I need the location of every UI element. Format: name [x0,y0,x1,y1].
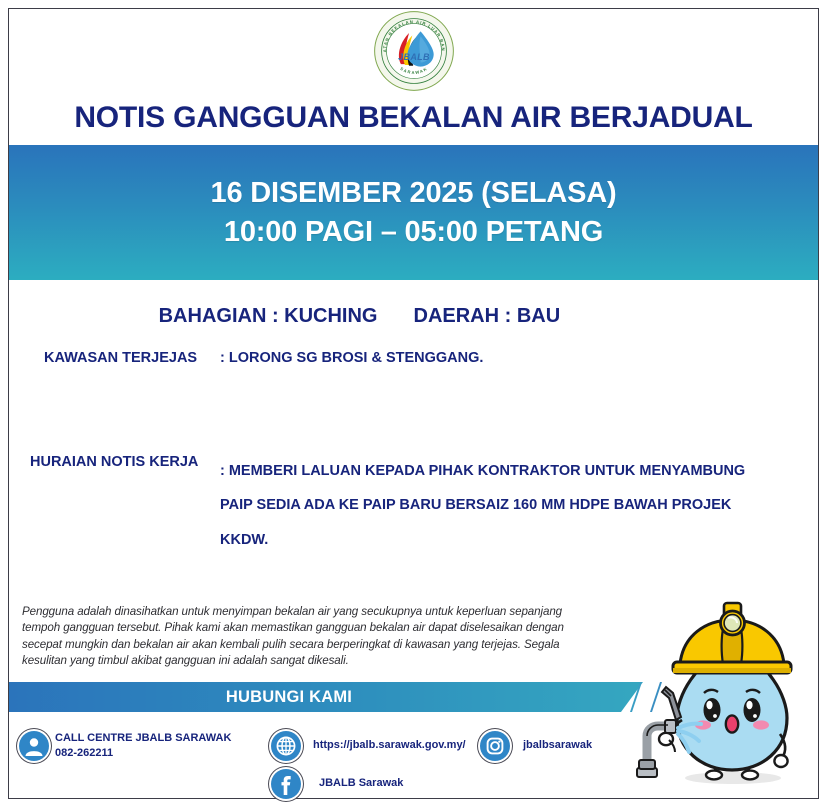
person-icon [20,732,48,760]
contact-banner-label: HUBUNGI KAMI [9,682,569,712]
notice-date: 16 DISEMBER 2025 (SELASA) [211,177,617,210]
water-droplet-mascot-icon [625,592,820,797]
facebook-icon [272,770,300,798]
call-centre-phone: 082-262211 [55,746,231,761]
logo-container: JABATAN BEKALAN AIR LUAR BANDAR SARAWAK … [0,10,827,92]
contact-website[interactable]: https://jbalb.sarawak.gov.my/ [272,732,466,760]
contact-call-centre[interactable]: CALL CENTRE JBALB SARAWAK 082-262211 [20,731,231,761]
advisory-paragraph: Pengguna adalah dinasihatkan untuk menyi… [22,604,590,670]
kawasan-terjejas-label: KAWASAN TERJEJAS [44,350,220,366]
affected-area-row: KAWASAN TERJEJAS : LORONG SG BROSI & STE… [44,350,483,366]
contact-instagram[interactable]: jbalbsarawak [481,732,592,760]
huraian-notis-kerja-label: HURAIAN NOTIS KERJA [30,454,220,557]
notice-time: 10:00 PAGI – 05:00 PETANG [224,216,603,249]
notice-poster: JABATAN BEKALAN AIR LUAR BANDAR SARAWAK … [0,0,827,807]
bahagian-value: BAHAGIAN : KUCHING [0,305,414,328]
date-time-banner: 16 DISEMBER 2025 (SELASA) 10:00 PAGI – 0… [9,145,818,280]
globe-icon [272,732,300,760]
division-district-row: BAHAGIAN : KUCHING DAERAH : BAU [0,305,827,328]
svg-text:JBALB: JBALB [398,52,430,62]
contact-facebook[interactable]: JBALB Sarawak [272,770,403,798]
call-centre-name: CALL CENTRE JBALB SARAWAK [55,731,231,746]
huraian-notis-kerja-value: : MEMBERI LALUAN KEPADA PIHAK KONTRAKTOR… [220,454,780,557]
facebook-handle[interactable]: JBALB Sarawak [319,776,403,791]
kawasan-terjejas-value: : LORONG SG BROSI & STENGGANG. [220,350,483,366]
contact-banner: HUBUNGI KAMI [9,682,643,712]
jbalb-logo-icon: JABATAN BEKALAN AIR LUAR BANDAR SARAWAK … [373,10,455,92]
work-description-row: HURAIAN NOTIS KERJA : MEMBERI LALUAN KEP… [30,454,780,557]
instagram-handle[interactable]: jbalbsarawak [523,738,592,753]
page-title: NOTIS GANGGUAN BEKALAN AIR BERJADUAL [0,101,827,135]
instagram-icon [481,732,509,760]
daerah-value: DAERAH : BAU [414,305,827,328]
website-url[interactable]: https://jbalb.sarawak.gov.my/ [313,738,466,753]
